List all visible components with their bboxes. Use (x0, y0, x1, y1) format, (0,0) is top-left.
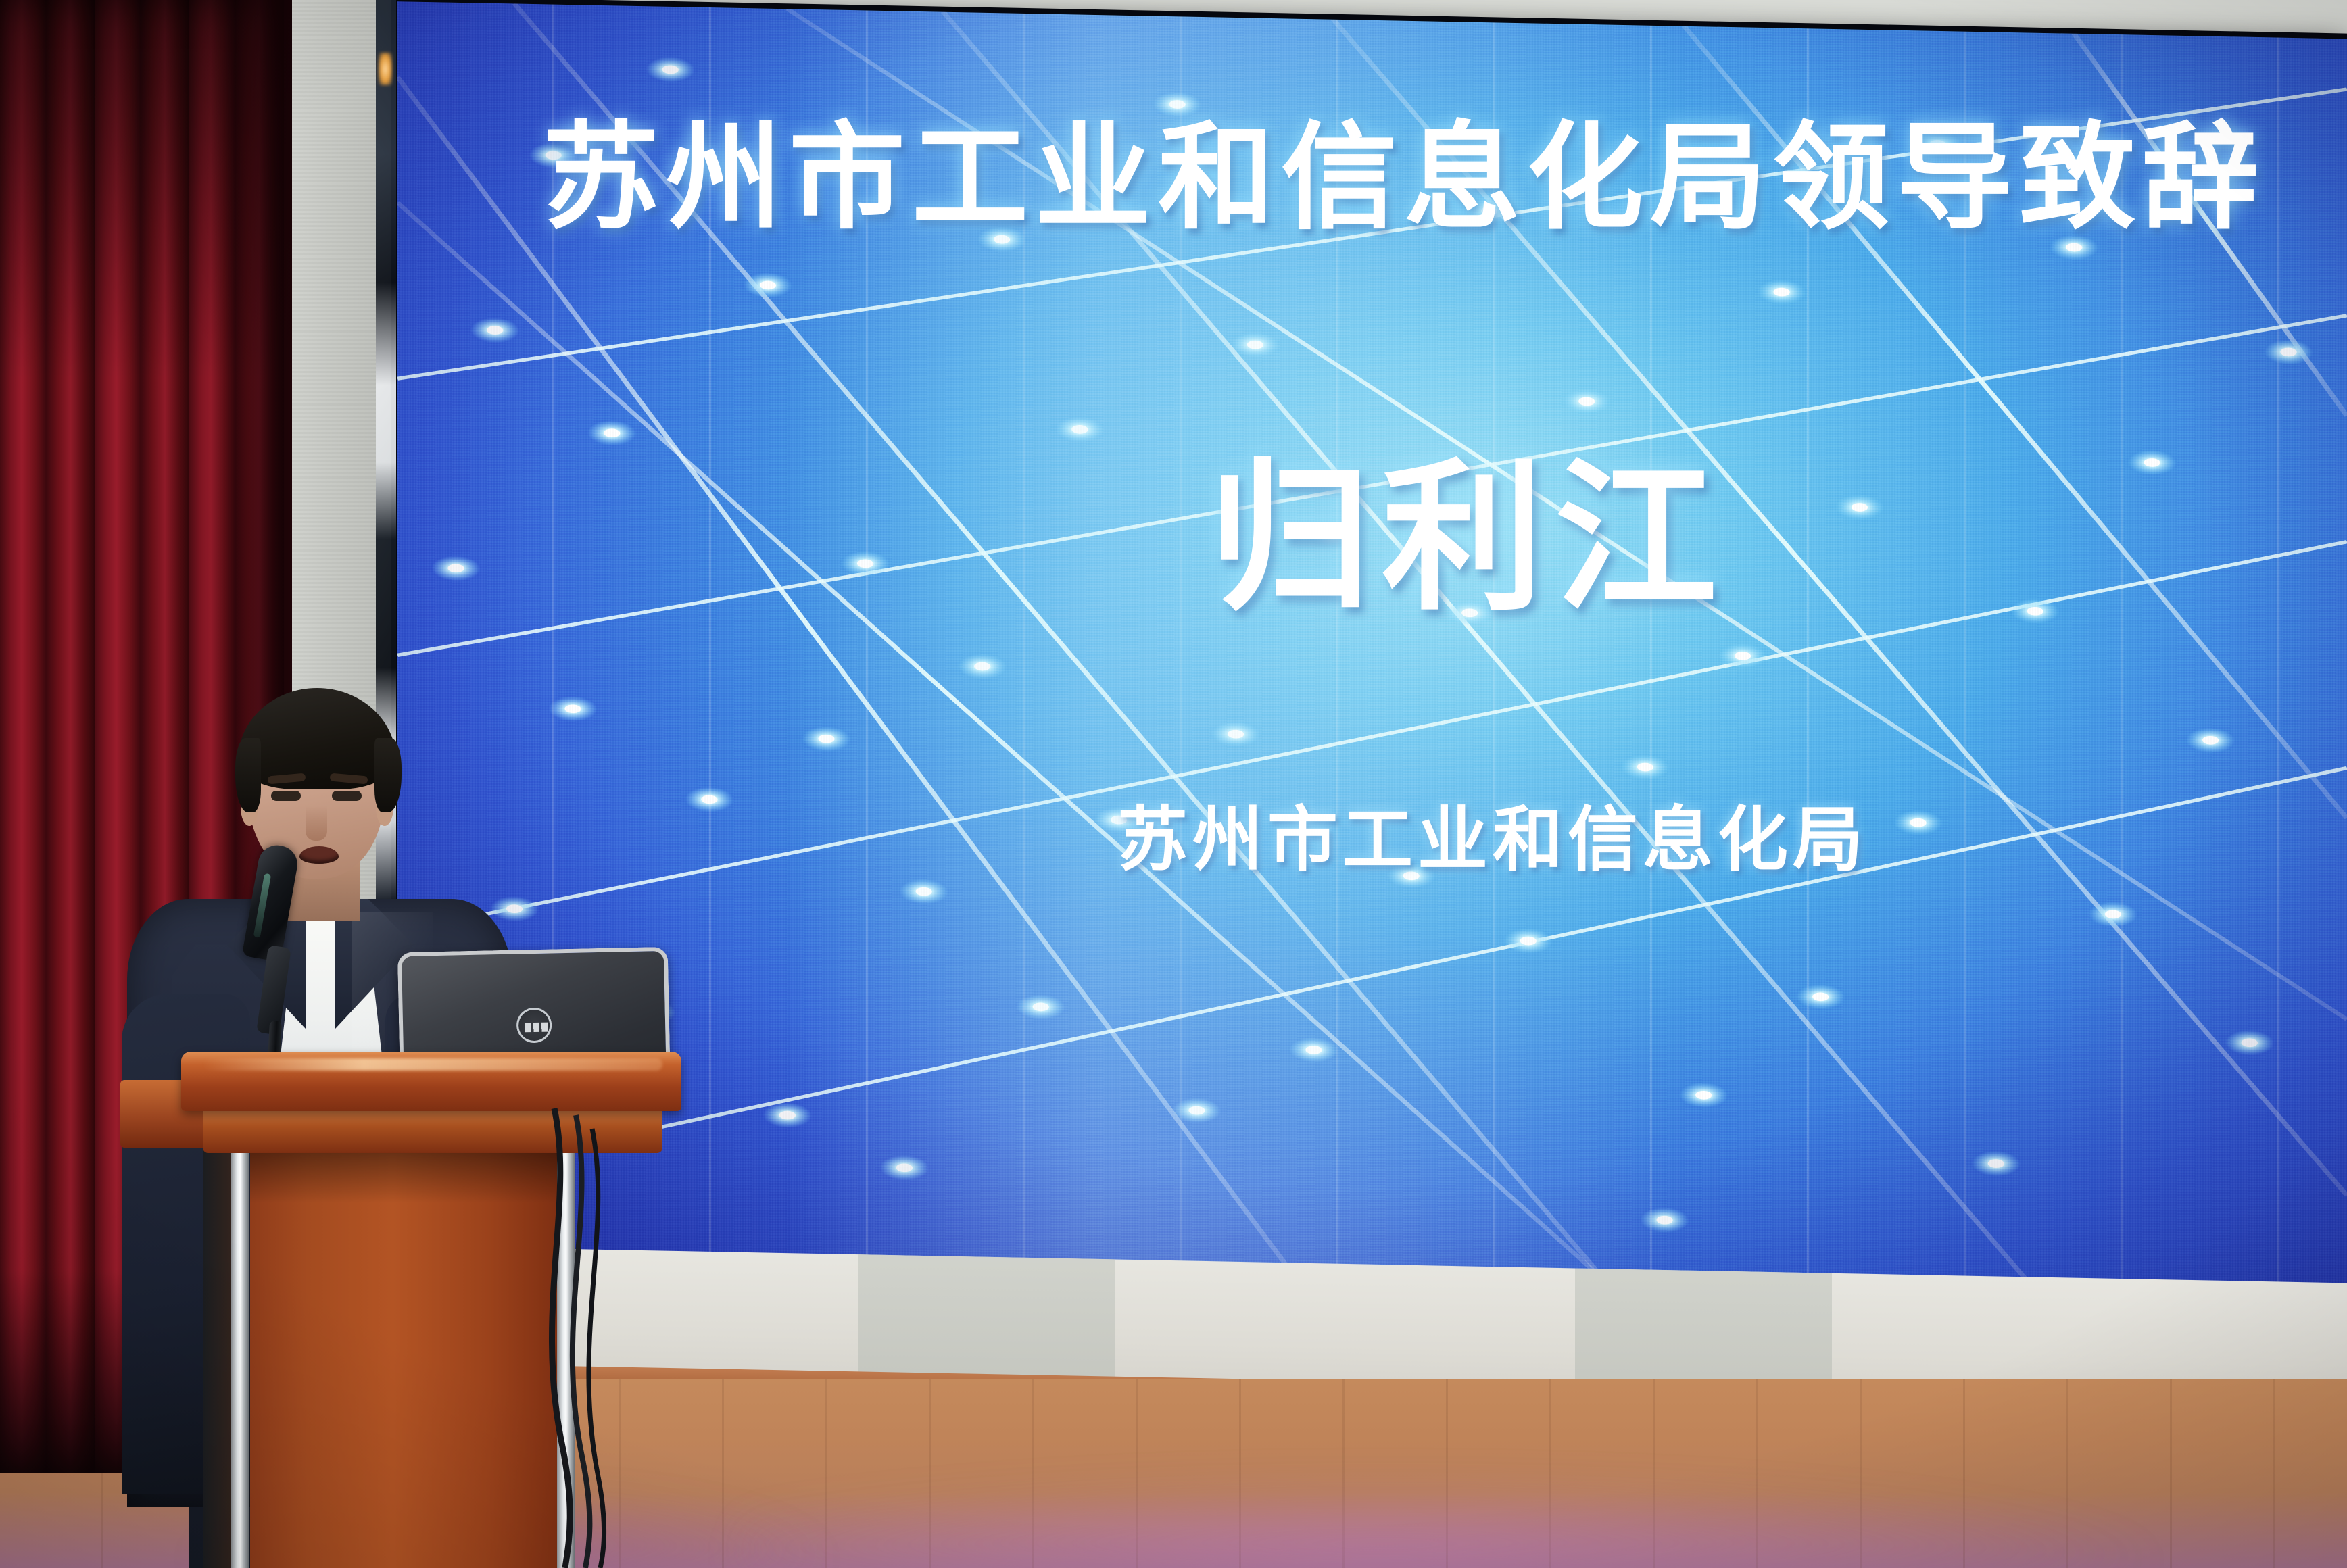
photograph-scene: 苏州市工业和信息化局领导致辞 归利江 苏州市工业和信息化局 (0, 0, 2347, 1568)
slide-speaker-name: 归利江 (1209, 407, 1728, 641)
speaker-eye-right (332, 791, 362, 801)
slide-title: 苏州市工业和信息化局领导致辞 (543, 82, 2265, 251)
floor-light-reflection (744, 1440, 2347, 1568)
podium-column-shadow (250, 1149, 568, 1203)
podium-cables (527, 1108, 744, 1568)
podium-column (250, 1149, 568, 1568)
slide-text-block: 苏州市工业和信息化局领导致辞 归利江 苏州市工业和信息化局 (397, 1, 2347, 1258)
reflected-lamp-glow (379, 53, 392, 85)
podium-inner-shadow (203, 1149, 234, 1568)
led-display-screen: 苏州市工业和信息化局领导致辞 归利江 苏州市工业和信息化局 (397, 1, 2347, 1296)
speaker-hair-side-left (235, 738, 261, 812)
slide-organization: 苏州市工业和信息化局 (1117, 782, 1868, 884)
speaker-hair (238, 688, 396, 789)
speaker-eye-left (271, 791, 301, 801)
podium-edge-highlight (203, 1058, 662, 1071)
speaker-nose (306, 806, 327, 841)
podium-steel-rail-left (231, 1142, 249, 1568)
dell-logo-icon (516, 1008, 552, 1044)
speaker-hair-side-right (374, 738, 402, 812)
speaker-mouth (299, 846, 339, 864)
